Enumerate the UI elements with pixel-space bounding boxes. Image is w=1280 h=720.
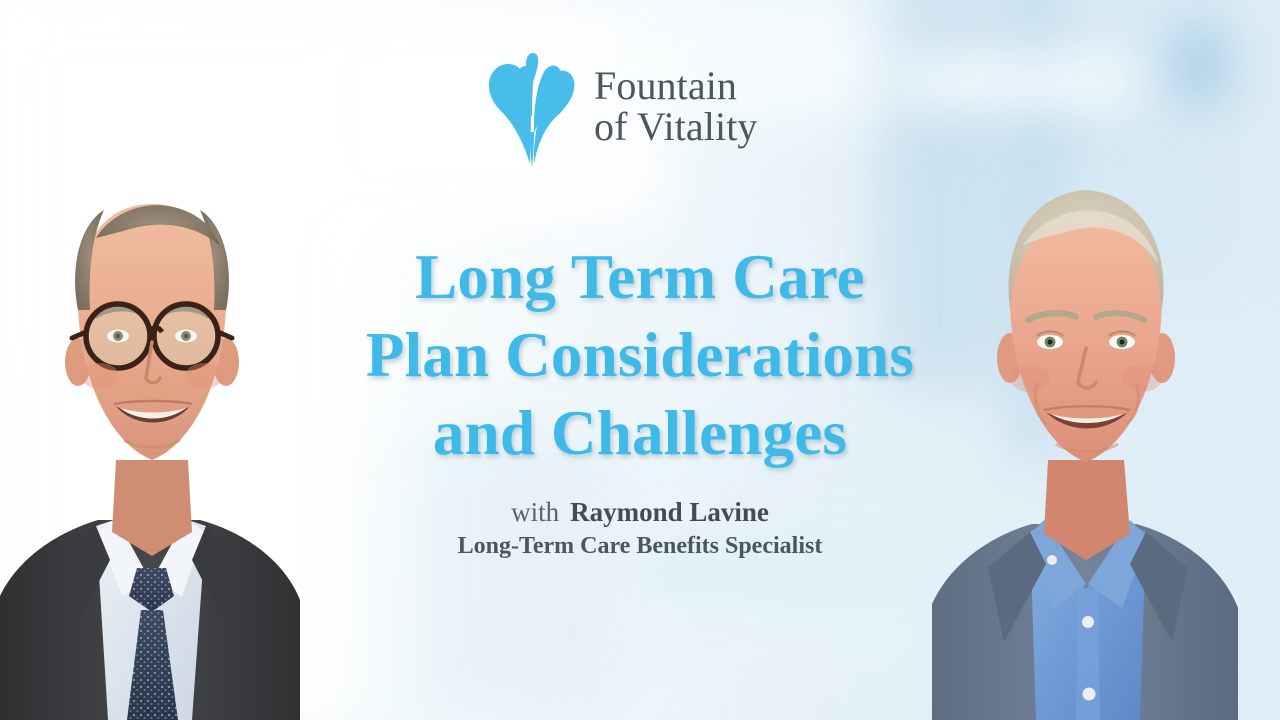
brand-name-line2: of Vitality [594,107,758,148]
host-portrait-left [0,160,352,720]
brand-logo-lockup: Fountain of Vitality [486,46,758,168]
brand-wordmark: Fountain of Vitality [594,66,758,148]
fountain-heart-droplets-icon [486,46,578,168]
speaker-name: Raymond Lavine [570,497,769,527]
title-card-slide: Fountain of Vitality Long Term Care Plan… [0,0,1280,720]
guest-portrait-right-image [926,160,1280,720]
host-portrait-left-image [0,160,352,720]
brand-name-line1: Fountain [594,66,758,107]
credit-preposition: with [511,497,559,527]
guest-portrait-right [926,160,1280,720]
